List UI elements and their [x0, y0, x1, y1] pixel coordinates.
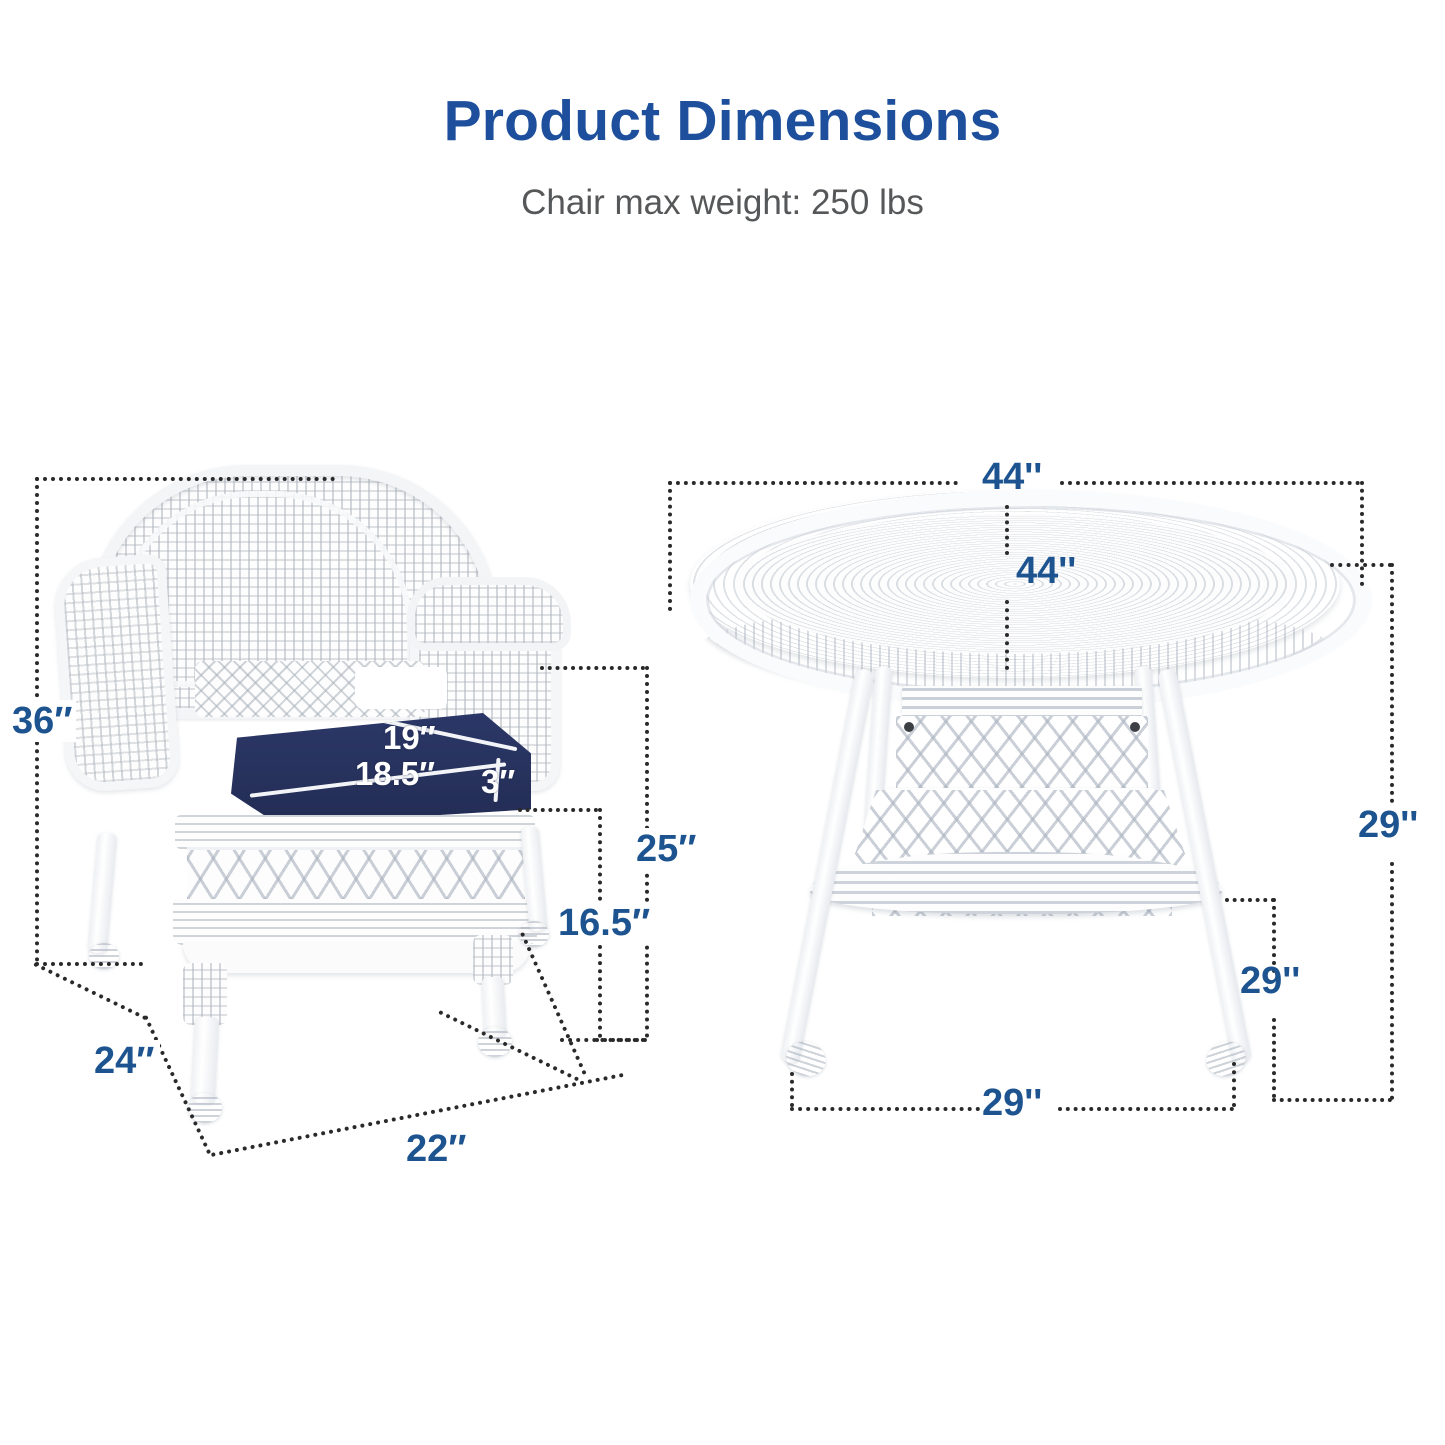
chair-height-guide-top: [35, 477, 335, 481]
chair-seat-guide-top: [518, 808, 598, 812]
table-spread-tick-right: [1232, 1062, 1236, 1107]
table-height-label: 29'': [1358, 806, 1418, 844]
chair-front-left-leg-top: [183, 963, 227, 1025]
chair-footprint-depth-label: 24″: [88, 1040, 160, 1082]
table-height-guide-bottom: [1272, 1098, 1392, 1102]
table-spread-guide-left: [790, 1107, 980, 1111]
table-base-mesh-upper: [896, 716, 1148, 790]
table-top-width-label: 44'': [982, 458, 1042, 496]
chair-height-guide-bottom: [35, 962, 143, 966]
chair-footprint-tie: [595, 1038, 647, 1042]
table-base-band-upper: [902, 686, 1142, 718]
chair-height-label: 36″: [8, 700, 76, 742]
chair-skirt-lattice: [187, 847, 525, 905]
product-dimensions-diagram: Product Dimensions Chair max weight: 250…: [0, 0, 1445, 1445]
chair-footprint-width-label: 22″: [400, 1128, 472, 1170]
page-subtitle: Chair max weight: 250 lbs: [0, 183, 1445, 223]
table-height-guide-top: [1330, 563, 1392, 567]
chair-right-arm-top: [407, 577, 571, 651]
table-width-tick-right: [1360, 481, 1364, 586]
chair-seat-rail: [175, 815, 535, 849]
table-base-shelf: [810, 852, 1222, 914]
table-width-guide-right: [1060, 481, 1360, 485]
table-width-guide-left: [668, 481, 958, 485]
table-spread-tick-left: [790, 1072, 794, 1107]
table-leg-guide-lower: [1272, 1018, 1276, 1098]
table-depth-guide-lower: [1005, 600, 1009, 670]
table-leg-height-label: 29'': [1240, 962, 1300, 1000]
table-leg-guide-top: [1225, 898, 1275, 902]
table-illustration: [690, 490, 1340, 1105]
table-base-stud-left: [904, 722, 914, 732]
chair-arm-guide-top: [540, 666, 645, 670]
table-spread-label: 29'': [982, 1084, 1042, 1122]
table-top-rim: [690, 490, 1372, 710]
table-height-guide-upper: [1390, 563, 1394, 803]
table-height-guide-lower: [1390, 862, 1394, 1100]
chair-back-opening: [355, 667, 447, 709]
chair-seat-height-label: 16.5″: [552, 902, 656, 944]
cushion-depth-label: 19″: [383, 721, 436, 754]
chair-front-left-leg: [191, 1016, 219, 1103]
table-base-stud-right: [1130, 722, 1140, 732]
page-title: Product Dimensions: [0, 88, 1445, 154]
cushion-thickness-label: 3″: [481, 765, 515, 798]
table-spread-guide-right: [1058, 1107, 1234, 1111]
table-top-depth-label: 44'': [1016, 552, 1076, 590]
table-width-tick-left: [668, 481, 672, 611]
chair-back-left-leg: [88, 832, 117, 953]
cushion-width-label: 18.5″: [355, 757, 435, 790]
chair-left-arm: [52, 553, 181, 793]
chair-arm-height-label: 25″: [630, 828, 702, 870]
table-depth-guide-upper: [1005, 505, 1009, 555]
